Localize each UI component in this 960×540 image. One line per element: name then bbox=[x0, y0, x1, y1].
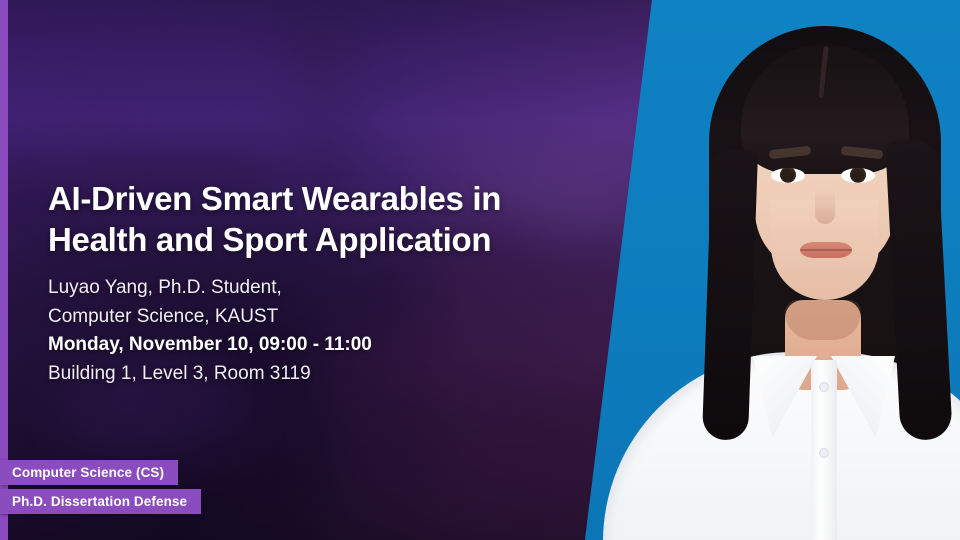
portrait-shirt-button-top bbox=[819, 382, 829, 392]
badge-group: Computer Science (CS) Ph.D. Dissertation… bbox=[0, 460, 201, 518]
event-announcement-slide: AI-Driven Smart Wearables in Health and … bbox=[0, 0, 960, 540]
speaker-portrait bbox=[645, 0, 960, 540]
talk-title-line-2: Health and Sport Application bbox=[48, 219, 588, 260]
speaker-affiliation: Computer Science, KAUST bbox=[48, 303, 588, 332]
left-accent-stripe bbox=[0, 0, 8, 540]
talk-title: AI-Driven Smart Wearables in Health and … bbox=[48, 178, 588, 260]
portrait-neck-shadow bbox=[785, 300, 861, 340]
portrait-shirt-button-bottom bbox=[819, 448, 829, 458]
badge-event-type: Ph.D. Dissertation Defense bbox=[0, 489, 201, 514]
text-content-block: AI-Driven Smart Wearables in Health and … bbox=[48, 0, 608, 540]
portrait-pupil-left bbox=[781, 169, 794, 182]
talk-details: Luyao Yang, Ph.D. Student, Computer Scie… bbox=[48, 274, 588, 388]
event-datetime: Monday, November 10, 09:00 - 11:00 bbox=[48, 331, 588, 360]
portrait-lip-line bbox=[800, 249, 852, 251]
event-location: Building 1, Level 3, Room 3119 bbox=[48, 360, 588, 389]
badge-department: Computer Science (CS) bbox=[0, 460, 178, 485]
talk-title-line-1: AI-Driven Smart Wearables in bbox=[48, 178, 588, 219]
speaker-name: Luyao Yang, Ph.D. Student, bbox=[48, 274, 588, 303]
portrait-pupil-right bbox=[851, 169, 864, 182]
portrait-nose bbox=[815, 190, 835, 224]
